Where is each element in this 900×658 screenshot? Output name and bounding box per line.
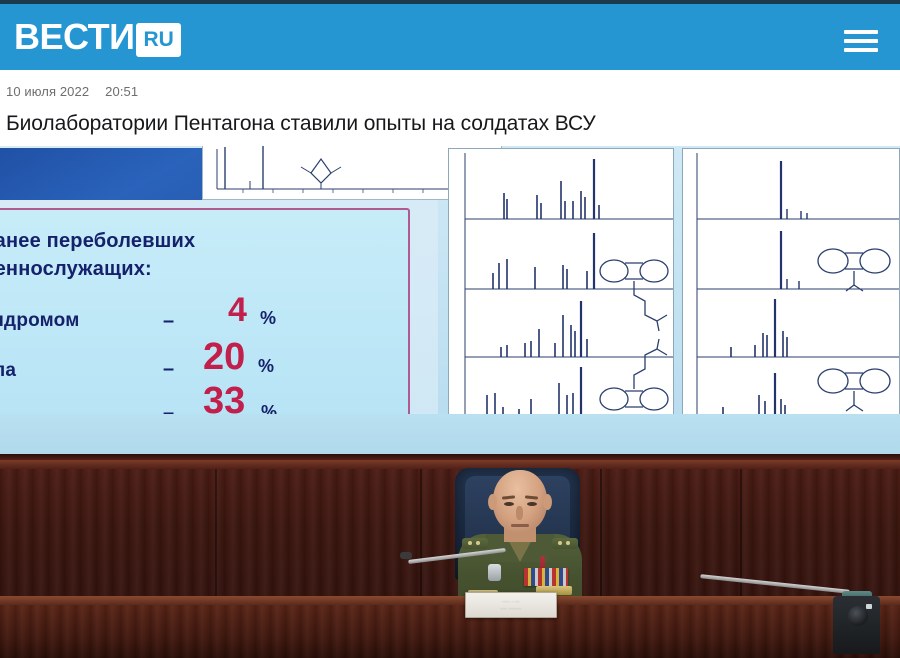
hamburger-bar-2 bbox=[844, 39, 878, 43]
slide-row-1-unit: % bbox=[260, 308, 276, 329]
site-header: ВЕСТИ RU bbox=[0, 4, 900, 70]
article-time: 20:51 bbox=[105, 84, 138, 99]
page-title: Биолаборатории Пентагона ставили опыты н… bbox=[6, 110, 886, 138]
ear-left bbox=[488, 494, 497, 510]
molecule-structure-left-lower bbox=[600, 339, 668, 410]
slide-row-2-label: р Нила bbox=[0, 360, 16, 382]
slide-row-2-value: 20 bbox=[203, 338, 245, 376]
desk-front-panel bbox=[0, 605, 900, 658]
epaulet-star-left-1 bbox=[468, 541, 472, 545]
eye-right bbox=[527, 502, 537, 506]
camera-indicator bbox=[866, 604, 872, 609]
nameplate-line-1: ····· · ··· bbox=[502, 599, 520, 604]
wall-seam-2 bbox=[420, 469, 422, 599]
slide-stats-panel: и ранее переболевших к военнослужащих: м… bbox=[0, 208, 410, 431]
eye-left bbox=[504, 502, 514, 506]
slide-row-2-unit: % bbox=[258, 356, 274, 377]
mouth bbox=[511, 524, 529, 527]
slide-heading-line-1: и ранее переболевших bbox=[0, 230, 195, 253]
wall-seam-1 bbox=[215, 469, 217, 599]
epaulet-star-right-2 bbox=[566, 541, 570, 545]
article-meta: 10 июля 202220:51 bbox=[6, 84, 138, 99]
logo-text-ru: RU bbox=[143, 28, 173, 51]
spectra-svg-left bbox=[449, 149, 674, 428]
mass-spectra-panel-right bbox=[682, 148, 900, 428]
wall-seam-3 bbox=[600, 469, 602, 599]
molecule-structure-right-upper bbox=[818, 249, 890, 291]
slide-row-1-dash: – bbox=[163, 310, 174, 333]
microphone-capsule bbox=[400, 552, 412, 559]
projection-screen: и ранее переболевших к военнослужащих: м… bbox=[0, 146, 900, 456]
hamburger-menu-icon[interactable] bbox=[844, 30, 878, 52]
nose bbox=[516, 506, 523, 520]
camera-lens-icon bbox=[848, 606, 868, 626]
screen-lower-fade bbox=[0, 414, 900, 456]
molecule-structure-right-lower bbox=[818, 369, 890, 411]
article-date: 10 июля 2022 bbox=[6, 84, 89, 99]
site-logo[interactable]: ВЕСТИ RU bbox=[14, 18, 181, 56]
slide-row-1-label: м синдромом bbox=[0, 310, 80, 332]
medal-ribbon-bar bbox=[524, 568, 568, 586]
slide-row-1-value: 4 bbox=[228, 293, 247, 327]
epaulet-left bbox=[462, 538, 488, 549]
logo-text-vesti: ВЕСТИ bbox=[14, 18, 134, 56]
hamburger-bar-3 bbox=[844, 48, 878, 52]
ear-right bbox=[543, 494, 552, 510]
head bbox=[493, 470, 547, 532]
spectra-svg-right bbox=[683, 149, 900, 428]
epaulet-star-right-1 bbox=[558, 541, 562, 545]
hamburger-bar-1 bbox=[844, 30, 878, 34]
mass-spectra-panel-left bbox=[448, 148, 674, 428]
article-page: ВЕСТИ RU 10 июля 202220:51 Биолаборатори… bbox=[0, 0, 900, 658]
nameplate-line-2: ···· ········ bbox=[501, 606, 522, 611]
uniform-badge-silver bbox=[488, 564, 501, 581]
desk-nameplate: ····· · ··· ···· ········ bbox=[465, 592, 557, 618]
article-photo: и ранее переболевших к военнослужащих: м… bbox=[0, 146, 900, 658]
slide-row-2-dash: – bbox=[163, 358, 174, 381]
desk-surface bbox=[0, 596, 900, 605]
epaulet-star-left-2 bbox=[476, 541, 480, 545]
logo-badge-ru: RU bbox=[136, 23, 180, 57]
conference-room: ····· · ··· ···· ········ bbox=[0, 454, 900, 658]
epaulet-right bbox=[552, 538, 578, 549]
molecule-structure-left-upper bbox=[600, 260, 668, 331]
slide-heading-line-2: к военнослужащих: bbox=[0, 258, 152, 281]
